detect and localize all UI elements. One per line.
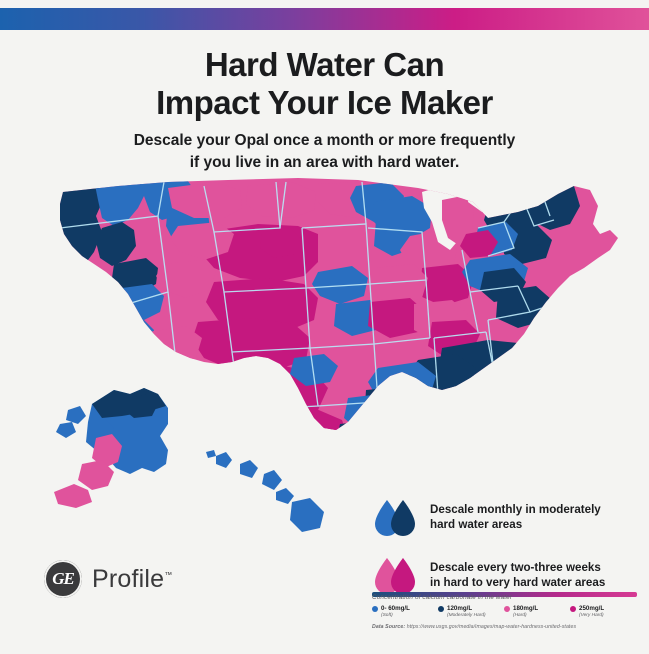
- scale-swatch-very-hard: 250mg/L (Very Hard): [570, 605, 636, 619]
- callout-1-line-2: hard water areas: [430, 517, 601, 532]
- profile-wordmark: Profile™: [92, 565, 172, 594]
- scale-swatch-hard: 180mg/L (Hard): [504, 605, 570, 619]
- us-water-hardness-map: [18, 172, 633, 532]
- title-line-1: Hard Water Can: [205, 46, 444, 83]
- map-hawaii: [206, 450, 324, 532]
- swatch-dot-moderately-hard: [438, 606, 444, 612]
- swatch-soft-labels: 0- 60mg/L (Soft): [381, 605, 410, 619]
- trademark-symbol: ™: [164, 570, 172, 579]
- swatch-hard-label: (Hard): [513, 612, 538, 619]
- swatch-moderately-hard-labels: 120mg/L (Moderately Hard): [447, 605, 486, 619]
- title-line-2: Impact Your Ice Maker: [0, 84, 649, 122]
- scale-swatch-moderately-hard: 120mg/L (Moderately Hard): [438, 605, 504, 619]
- swatch-hard-labels: 180mg/L (Hard): [513, 605, 538, 619]
- swatch-hard-value: 180mg/L: [513, 605, 538, 612]
- top-gradient-bar: [0, 8, 649, 30]
- water-drop-pair-blue-icon: [372, 498, 418, 542]
- data-source-url: https://www.usgs.gov/media/images/map-wa…: [407, 624, 576, 630]
- swatch-moderately-hard-value: 120mg/L: [447, 605, 486, 612]
- page-subtitle: Descale your Opal once a month or more f…: [0, 130, 649, 174]
- ge-monogram-icon: GE: [44, 560, 82, 598]
- callout-moderately-hard-text: Descale monthly in moderately hard water…: [430, 498, 601, 532]
- swatch-very-hard-labels: 250mg/L (Very Hard): [579, 605, 604, 619]
- callout-2-line-1: Descale every two-three weeks: [430, 560, 605, 575]
- data-source-label: Data Source:: [372, 624, 405, 630]
- swatch-moderately-hard-label: (Moderately Hard): [447, 612, 486, 619]
- profile-text: Profile: [92, 565, 164, 593]
- swatch-soft-value: 0- 60mg/L: [381, 605, 410, 612]
- subtitle-line-1: Descale your Opal once a month or more f…: [134, 132, 516, 149]
- hardness-scale-legend: Concentration of calcium carbonate in th…: [372, 584, 637, 619]
- infographic-poster: Hard Water Can Impact Your Ice Maker Des…: [0, 0, 649, 654]
- swatch-soft-label: (Soft): [381, 612, 410, 619]
- subtitle-line-2: if you live in an area with hard water.: [0, 152, 649, 174]
- swatch-very-hard-value: 250mg/L: [579, 605, 604, 612]
- swatch-dot-hard: [504, 606, 510, 612]
- scale-swatch-list: 0- 60mg/L (Soft) 120mg/L (Moderately Har…: [372, 605, 637, 619]
- swatch-dot-very-hard: [570, 606, 576, 612]
- page-title: Hard Water Can Impact Your Ice Maker: [0, 46, 649, 122]
- callout-moderately-hard: Descale monthly in moderately hard water…: [372, 498, 634, 542]
- scale-gradient-bar: [372, 584, 637, 589]
- scale-swatch-soft: 0- 60mg/L (Soft): [372, 605, 438, 619]
- data-source-note: Data Source: https://www.usgs.gov/media/…: [372, 624, 642, 630]
- swatch-dot-soft: [372, 606, 378, 612]
- callout-1-line-1: Descale monthly in moderately: [430, 502, 601, 517]
- map-alaska: [54, 388, 168, 508]
- swatch-very-hard-label: (Very Hard): [579, 612, 604, 619]
- ge-profile-logo: GE Profile™: [44, 560, 172, 598]
